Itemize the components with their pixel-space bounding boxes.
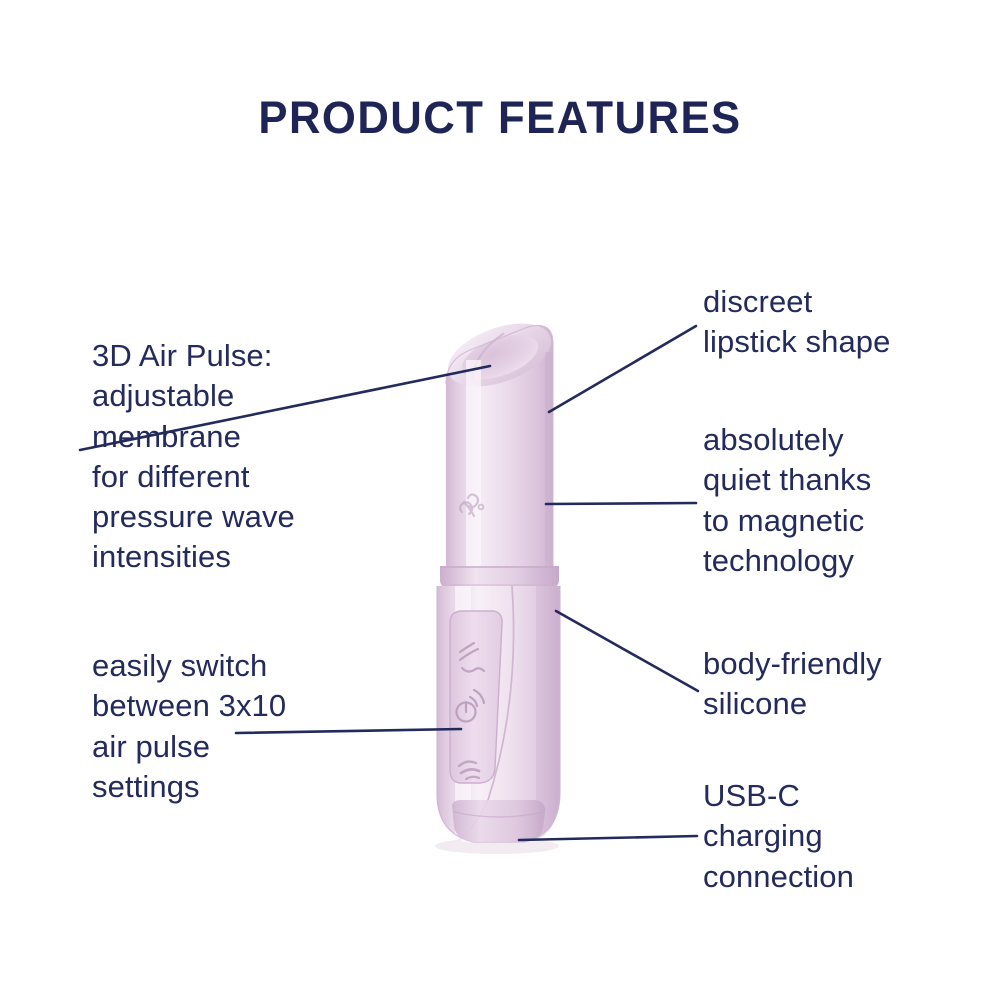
product-cap — [440, 311, 560, 572]
callout-usb-c-charging: USB-C charging connection — [703, 776, 963, 897]
power-wave-icon[interactable] — [457, 690, 485, 722]
leader-usb-c — [519, 836, 697, 840]
callout-easily-switch: easily switch between 3x10 air pulse set… — [92, 646, 362, 807]
air-pulse-opening — [456, 326, 544, 388]
infographic-canvas: PRODUCT FEATURES 3D Air Pulse: adjustabl… — [0, 0, 1000, 1000]
cap-handle-seam — [440, 566, 559, 589]
product-handle — [437, 586, 562, 856]
shell-parting-line — [440, 586, 514, 852]
leader-body-friendly — [556, 611, 698, 691]
page-title: PRODUCT FEATURES — [15, 92, 985, 144]
intensity-up-icon[interactable] — [460, 643, 484, 672]
opening-inner-shadow — [461, 333, 515, 379]
usb-c-port-seam — [454, 812, 543, 817]
cap-rim — [440, 311, 560, 399]
brand-logo-icon — [460, 494, 483, 516]
product-body — [435, 311, 562, 856]
product-base — [452, 800, 545, 842]
callout-discreet-lipstick-shape: discreet lipstick shape — [703, 282, 973, 363]
product-shadow — [435, 838, 559, 854]
wave-mode-icon[interactable] — [459, 762, 479, 779]
callout-body-friendly-silicone: body-friendly silicone — [703, 644, 973, 725]
callout-3d-air-pulse: 3D Air Pulse: adjustable membrane for di… — [92, 336, 382, 578]
leader-absolutely-quiet — [546, 503, 696, 504]
callout-absolutely-quiet: absolutely quiet thanks to magnetic tech… — [703, 420, 963, 581]
leader-discreet-lipstick — [549, 326, 696, 412]
control-panel[interactable] — [450, 611, 502, 783]
